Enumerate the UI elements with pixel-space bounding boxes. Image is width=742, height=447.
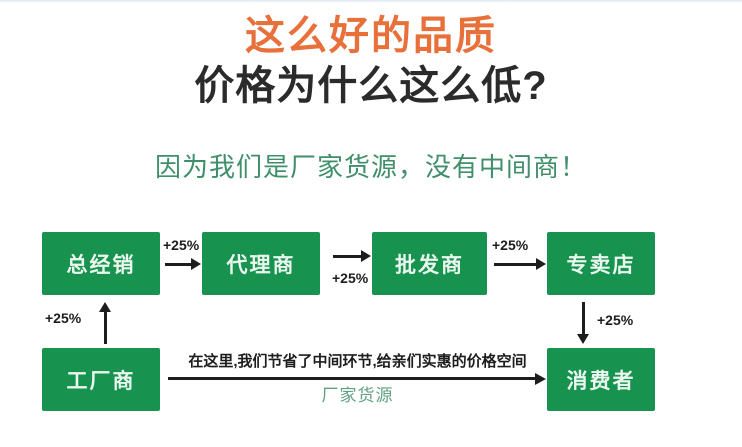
supply-chain-diagram: 总经销 代理商 批发商 专卖店 工厂商 消费者 +25% +25% +25%	[0, 0, 742, 447]
arrow-shaft	[333, 255, 362, 258]
arrow-up-icon-factory-distributor	[99, 302, 111, 344]
markup-label-store-consumer: +25%	[597, 312, 633, 328]
direct-channel-subcaption: 厂家货源	[168, 385, 547, 407]
arrow-shaft	[104, 311, 107, 344]
flow-node-agent: 代理商	[202, 232, 320, 295]
flow-node-store: 专卖店	[547, 232, 655, 295]
flow-node-wholesaler: 批发商	[372, 232, 487, 295]
arrow-shaft	[168, 377, 536, 380]
arrow-head	[191, 258, 201, 270]
flow-node-distributor: 总经销	[42, 232, 160, 295]
arrow-down-icon-store-consumer	[577, 302, 589, 344]
arrow-shaft	[494, 263, 537, 266]
markup-label-wholesaler-store: +25%	[492, 237, 528, 253]
flow-node-consumer: 消费者	[547, 348, 655, 411]
arrow-head	[535, 373, 546, 385]
promo-banner: 这么好的品质 价格为什么这么低? 因为我们是厂家货源，没有中间商！ 总经销 代理…	[0, 0, 742, 447]
arrow-head	[99, 302, 111, 312]
arrow-right-icon-factory-consumer	[168, 373, 547, 385]
arrow-right-icon-agent-wholesaler	[333, 250, 371, 262]
direct-channel-caption: 在这里,我们节省了中间环节,给亲们实惠的价格空间	[168, 352, 547, 372]
flow-node-factory: 工厂商	[42, 348, 160, 411]
arrow-head	[577, 334, 589, 344]
arrow-shaft	[582, 302, 585, 335]
arrow-shaft	[165, 263, 192, 266]
arrow-head	[536, 258, 546, 270]
markup-label-distributor-agent: +25%	[163, 237, 199, 253]
arrow-right-icon-distributor-agent	[165, 258, 201, 270]
markup-label-agent-wholesaler: +25%	[332, 270, 368, 286]
arrow-head	[361, 250, 371, 262]
markup-label-factory-distributor: +25%	[45, 310, 81, 326]
arrow-right-icon-wholesaler-store	[494, 258, 546, 270]
